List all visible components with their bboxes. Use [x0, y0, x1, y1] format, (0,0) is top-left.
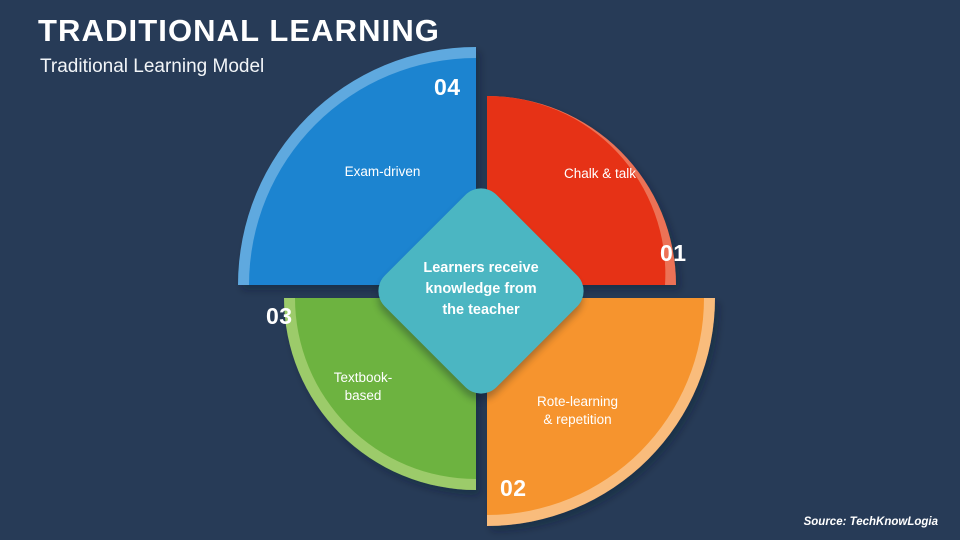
page-subtitle: Traditional Learning Model: [40, 57, 440, 78]
petal-02-number: 02: [500, 475, 527, 502]
pinwheel-diagram: Chalk & talk 01 Rote-learning & repetiti…: [0, 0, 960, 540]
petal-03-number: 03: [266, 303, 293, 330]
slide-canvas: TRADITIONAL LEARNING Traditional Learnin…: [0, 0, 960, 540]
source-attribution: Source: TechKnowLogia: [804, 516, 938, 528]
slide-header: TRADITIONAL LEARNING Traditional Learnin…: [38, 14, 440, 78]
petal-04-number: 04: [434, 74, 461, 101]
petal-01-number: 01: [660, 240, 687, 267]
page-title: TRADITIONAL LEARNING: [38, 14, 440, 48]
